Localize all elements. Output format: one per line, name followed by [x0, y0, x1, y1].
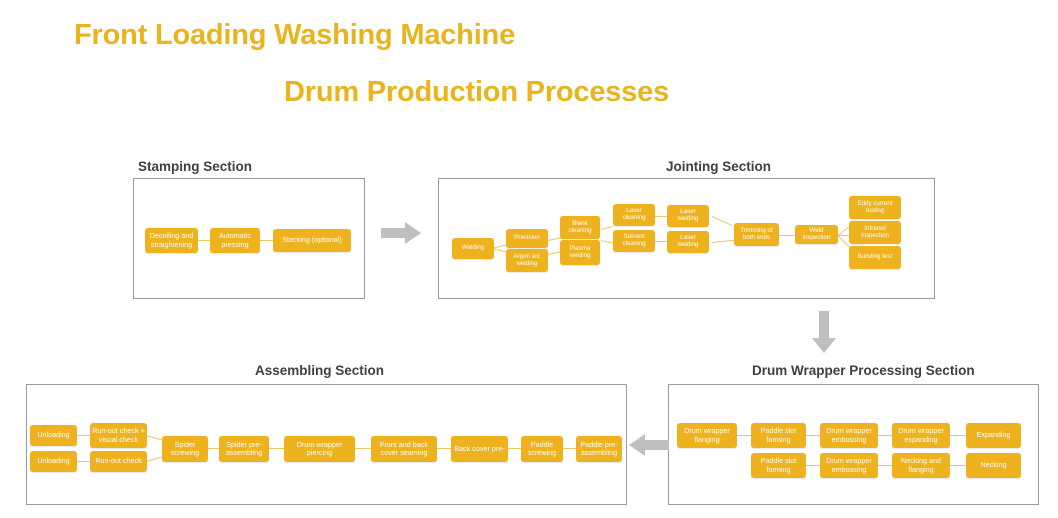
flow-arrow-right-stamping-to-jointing — [381, 222, 421, 244]
connector — [950, 435, 966, 436]
connector — [207, 448, 219, 449]
process-node-spider-pre-assembling[interactable]: Spider pre-assembling — [219, 436, 269, 462]
process-node-trimming-of-both-ends[interactable]: Trimming of both ends — [734, 223, 779, 246]
process-node-decoiling-and-straightening[interactable]: Decoiling and straightening — [145, 228, 198, 253]
connector — [563, 448, 576, 449]
section-title-assembling: Assembling Section — [255, 363, 384, 378]
process-node-paddle-pre-assembling[interactable]: Paddle pre-assembling — [576, 436, 622, 462]
process-node-drum-wrapper-piercing[interactable]: Drum wrapper piercing — [284, 436, 355, 462]
process-node-bursting-test[interactable]: Bursting test — [849, 246, 901, 269]
process-node-paddle-screwing[interactable]: Paddle screwing — [521, 436, 563, 462]
process-node-run-out-check-visual-check[interactable]: Run-out check + visual check — [90, 423, 147, 448]
process-node-paddle-slot-forming-1[interactable]: Paddle slot forming — [751, 423, 806, 448]
process-node-weld-inspection[interactable]: Weld inspection — [795, 225, 838, 244]
process-node-spider-screwing[interactable]: Spider screwing — [162, 436, 208, 462]
process-node-front-and-back-cover-seaming[interactable]: Front and back cover seaming — [371, 436, 437, 462]
connector — [779, 235, 795, 236]
process-node-paddle-slot-forming-2[interactable]: Paddle slot forming — [751, 453, 806, 478]
process-node-expanding[interactable]: Expanding — [966, 423, 1021, 448]
process-node-eddy-current-testing[interactable]: Eddy current testing — [849, 196, 901, 219]
connector — [655, 216, 667, 217]
process-node-plasma-welding[interactable]: Plasma welding — [560, 240, 600, 265]
connector — [950, 465, 966, 466]
section-title-drum-wrapper: Drum Wrapper Processing Section — [752, 363, 975, 378]
connector — [437, 448, 451, 449]
process-node-solvent-cleaning[interactable]: Solvent cleaning — [613, 230, 655, 252]
connector — [355, 448, 371, 449]
process-node-drum-wrapper-flanging[interactable]: Drum wrapper flanging — [677, 423, 737, 448]
process-node-drum-wrapper-embossing-2[interactable]: Drum wrapper embossing — [820, 453, 878, 478]
process-node-blank-cleaning[interactable]: Blank cleaning — [560, 216, 600, 239]
process-node-laser-welding-1[interactable]: Laser welding — [667, 205, 709, 227]
process-node-necking[interactable]: Necking — [966, 453, 1021, 478]
connector — [77, 461, 90, 462]
process-node-argon-arc-welding[interactable]: Argon arc welding — [506, 249, 548, 272]
process-node-drum-wrapper-embossing-1[interactable]: Drum wrapper embossing — [820, 423, 878, 448]
connector — [77, 435, 90, 436]
section-title-jointing: Jointing Section — [666, 159, 771, 174]
page-title-line-2: Drum Production Processes — [284, 76, 669, 109]
page-title-line-1: Front Loading Washing Machine — [74, 19, 515, 52]
connector — [197, 240, 211, 241]
process-node-welding[interactable]: Welding — [452, 238, 494, 259]
process-node-run-out-check[interactable]: Run-out check — [90, 451, 147, 472]
process-node-unloading-1[interactable]: Unloading — [30, 425, 77, 446]
connector — [655, 241, 667, 242]
process-node-infrared-inspection[interactable]: Infrared inspection — [849, 221, 901, 244]
connector — [269, 448, 284, 449]
flow-arrow-down-jointing-to-drum-wrapper — [812, 311, 836, 353]
process-node-unloading-2[interactable]: Unloading — [30, 451, 77, 472]
connector — [806, 465, 820, 466]
connector — [259, 240, 274, 241]
connector — [737, 435, 751, 436]
process-node-stacking-optional[interactable]: Stacking (optional) — [273, 229, 351, 252]
diagram-canvas: Front Loading Washing Machine Drum Produ… — [0, 0, 1058, 518]
connector — [878, 465, 892, 466]
process-node-automatic-pressing[interactable]: Automatic pressing — [210, 228, 260, 253]
process-node-necking-and-flanging[interactable]: Necking and flanging — [892, 453, 950, 478]
process-node-drum-wrapper-expanding[interactable]: Drum wrapper expanding — [892, 423, 950, 448]
connector — [878, 435, 892, 436]
process-node-laser-welding-2[interactable]: Laser welding — [667, 231, 709, 253]
process-node-precision[interactable]: Precision — [506, 229, 548, 248]
connector — [508, 448, 521, 449]
process-node-back-cover-pre[interactable]: Back cover pre- — [451, 436, 508, 462]
flow-arrow-left-drum-wrapper-to-assembling — [629, 434, 669, 456]
connector — [806, 435, 820, 436]
process-node-laser-cleaning[interactable]: Laser cleaning — [613, 204, 655, 226]
section-title-stamping: Stamping Section — [138, 159, 252, 174]
